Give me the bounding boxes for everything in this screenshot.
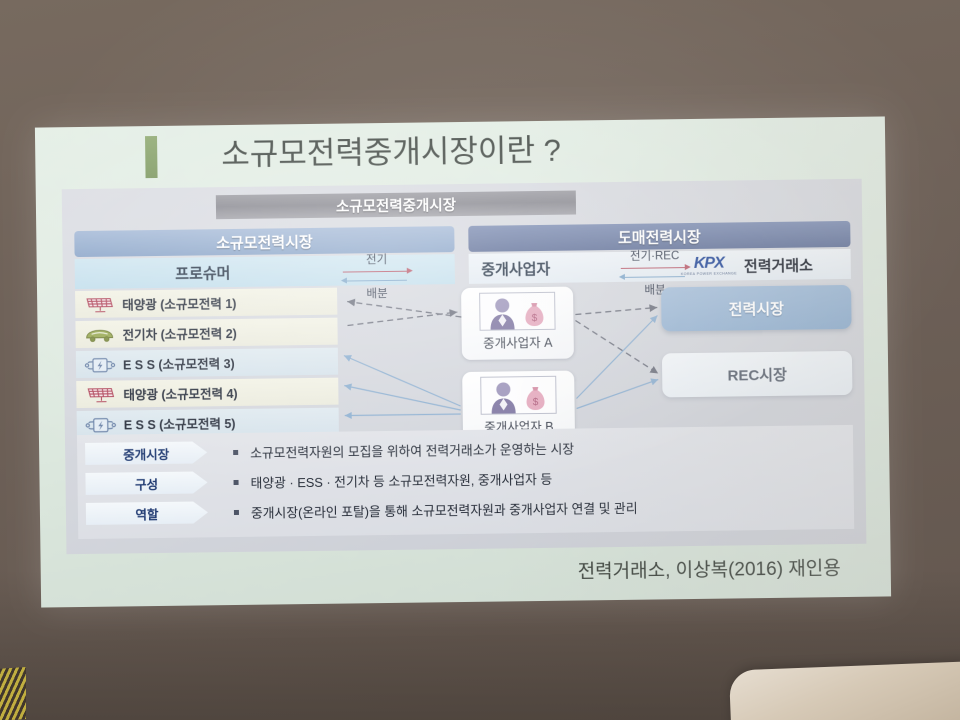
flow-label-bottom-left: 배분 bbox=[341, 285, 413, 302]
money-bag-icon: $ bbox=[526, 387, 544, 410]
businessman-money-icon: $ bbox=[481, 377, 557, 416]
list-item[interactable]: 태양광 (소규모전력 1) bbox=[75, 288, 337, 318]
flow-label-top-left: 전기 bbox=[341, 251, 413, 268]
broker-card-a[interactable]: $ 중개사업자 A bbox=[461, 287, 574, 360]
broker-b-illustration: $ bbox=[480, 376, 556, 415]
electric-car-icon bbox=[83, 324, 115, 344]
market-button-rec[interactable]: REC시장 bbox=[662, 351, 853, 397]
bullet-icon bbox=[233, 449, 238, 454]
ess-battery-icon bbox=[85, 414, 117, 434]
summary-row: 역할 중개시장(온라인 포탈)을 통해 소규모전력자원과 중개사업자 연결 및 … bbox=[86, 494, 638, 527]
summary-text: 소규모전력자원의 모집을 위하여 전력거래소가 운영하는 시장 bbox=[250, 438, 574, 461]
slide-surface: 소규모전력중개시장이란 ? 소규모전력중개시장 소규모전력시장 도매전력시장 프… bbox=[35, 116, 891, 607]
citation-text: 전력거래소, 이상복(2016) 재인용 bbox=[41, 553, 867, 591]
list-item[interactable]: 전기차 (소규모전력 2) bbox=[75, 318, 337, 348]
list-item-label: 태양광 (소규모전력 4) bbox=[123, 383, 237, 403]
summary-section: 중개시장 소규모전력자원의 모집을 위하여 전력거래소가 운영하는 시장 구성 … bbox=[77, 425, 854, 539]
solar-panel-icon bbox=[83, 294, 115, 314]
kpx-logo-mark: KPX bbox=[694, 255, 724, 271]
floor-object bbox=[0, 667, 26, 720]
title-accent-bar bbox=[145, 136, 158, 178]
summary-text: 중개시장(온라인 포탈)을 통해 소규모전력자원과 중개사업자 연결 및 관리 bbox=[251, 497, 638, 521]
table-edge bbox=[729, 661, 960, 720]
svg-text:$: $ bbox=[532, 313, 538, 324]
column-label-prosumer: 프로슈머 bbox=[123, 258, 283, 286]
summary-text: 태양광 · ESS · 전기차 등 소규모전력자원, 중개사업자 등 bbox=[250, 468, 552, 491]
solar-panel-icon bbox=[84, 384, 116, 404]
flow-line-back-left bbox=[341, 276, 413, 286]
projected-slide: 소규모전력중개시장이란 ? 소규모전력중개시장 소규모전력시장 도매전력시장 프… bbox=[35, 116, 891, 607]
column-label-broker: 중개사업자 bbox=[441, 254, 591, 282]
summary-row: 중개시장 소규모전력자원의 모집을 위하여 전력거래소가 운영하는 시장 bbox=[85, 435, 574, 467]
bullet-icon bbox=[234, 479, 239, 484]
flow-label-top-right: 전기·REC bbox=[619, 247, 691, 264]
summary-row: 구성 태양광 · ESS · 전기차 등 소규모전력자원, 중개사업자 등 bbox=[85, 465, 552, 497]
flow-line-back-right bbox=[619, 272, 691, 282]
svg-text:$: $ bbox=[533, 397, 539, 408]
businessman-money-icon: $ bbox=[480, 293, 556, 332]
diagram-header-bar: 소규모전력중개시장 bbox=[216, 191, 576, 220]
list-item-label: 태양광 (소규모전력 1) bbox=[122, 293, 236, 313]
broker-a-illustration: $ bbox=[479, 292, 555, 331]
summary-tag: 역할 bbox=[86, 501, 208, 525]
list-item-label: E S S (소규모전력 5) bbox=[124, 413, 236, 433]
businessman-icon bbox=[491, 382, 515, 413]
list-item-label: E S S (소규모전력 3) bbox=[123, 353, 235, 373]
broker-a-label: 중개사업자 A bbox=[483, 332, 553, 352]
diagram-panel: 소규모전력중개시장 소규모전력시장 도매전력시장 프로슈머 중개사업자 KPX … bbox=[62, 179, 867, 554]
prosumer-list: 태양광 (소규모전력 1) 전기차 (소규모전력 2) bbox=[75, 288, 339, 441]
flow-arrows-left: 전기 배분 bbox=[341, 251, 414, 302]
summary-tag: 중개시장 bbox=[85, 441, 207, 465]
summary-tag: 구성 bbox=[85, 471, 207, 495]
market-button-power[interactable]: 전력시장 bbox=[661, 285, 852, 331]
page-title: 소규모전력중개시장이란 ? bbox=[221, 125, 561, 174]
ess-battery-icon bbox=[84, 354, 116, 374]
bullet-icon bbox=[234, 509, 239, 514]
money-bag-icon: $ bbox=[525, 303, 543, 326]
exchange-group: KPX KOREA POWER EXCHANGE 전력거래소 bbox=[681, 249, 814, 281]
list-item[interactable]: E S S (소규모전력 3) bbox=[76, 348, 338, 378]
column-label-exchange: 전력거래소 bbox=[744, 254, 813, 276]
slide-title-row: 소규모전력중개시장이란 ? bbox=[35, 120, 886, 187]
list-item[interactable]: 태양광 (소규모전력 4) bbox=[76, 378, 338, 408]
businessman-icon bbox=[490, 298, 514, 329]
list-item-label: 전기차 (소규모전력 2) bbox=[122, 323, 236, 343]
